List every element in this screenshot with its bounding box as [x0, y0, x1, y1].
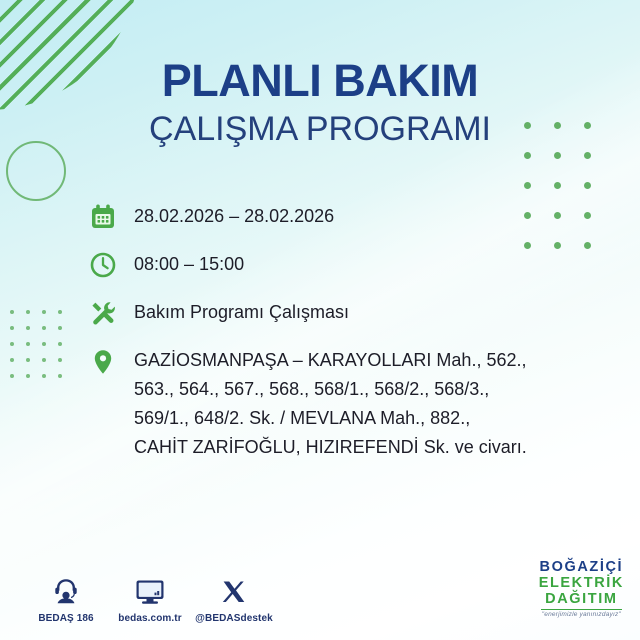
info-row-address: GAZİOSMANPAŞA – KARAYOLLARI Mah., 562., …: [86, 344, 586, 462]
title-line-1: PLANLI BAKIM: [0, 56, 640, 106]
contact-social[interactable]: @BEDASdestek: [192, 570, 276, 624]
headset-support-icon: [24, 570, 108, 606]
contact-social-label: @BEDASdestek: [192, 613, 276, 624]
planned-maintenance-poster: PLANLI BAKIM ÇALIŞMA PROGRAMI: [0, 0, 640, 640]
address-line-3: 569/1., 648/2. Sk. / MEVLANA Mah., 882.,: [134, 404, 527, 433]
dot-grid-left-decoration: [10, 310, 74, 390]
logo-line-elektrik: ELEKTRİK: [539, 575, 624, 591]
address-line-2: 563., 564., 567., 568., 568/1., 568/2., …: [134, 375, 527, 404]
info-row-date: 28.02.2026 – 28.02.2026: [86, 200, 586, 234]
footer: BEDAŞ 186: [0, 546, 640, 626]
work-type-value: Bakım Programı Çalışması: [134, 296, 349, 326]
date-range-value: 28.02.2026 – 28.02.2026: [134, 200, 334, 230]
title-line-2: ÇALIŞMA PROGRAMI: [0, 108, 640, 150]
location-pin-icon: [86, 344, 120, 378]
x-twitter-icon: [192, 570, 276, 606]
contact-list: BEDAŞ 186: [24, 570, 276, 624]
address-line-1: GAZİOSMANPAŞA – KARAYOLLARI Mah., 562.,: [134, 346, 527, 375]
tools-icon: [86, 296, 120, 330]
contact-website[interactable]: bedas.com.tr: [108, 570, 192, 624]
contact-phone-label: BEDAŞ 186: [24, 613, 108, 624]
bedas-logo: BOĞAZİÇİ ELEKTRİK DAĞITIM "enerjimizle y…: [539, 559, 624, 619]
page-title: PLANLI BAKIM ÇALIŞMA PROGRAMI: [0, 56, 640, 150]
address-line-4: CAHİT ZARİFOĞLU, HIZIREFENDİ Sk. ve civa…: [134, 433, 527, 462]
contact-phone[interactable]: BEDAŞ 186: [24, 570, 108, 624]
logo-line-dagitim: DAĞITIM: [539, 591, 624, 607]
logo-divider: [541, 609, 622, 611]
circle-outline-decoration: [6, 141, 66, 201]
contact-website-label: bedas.com.tr: [108, 613, 192, 624]
clock-icon: [86, 248, 120, 282]
info-row-work-type: Bakım Programı Çalışması: [86, 296, 586, 330]
logo-tagline: "enerjimizle yanınızdayız": [539, 611, 624, 618]
address-value: GAZİOSMANPAŞA – KARAYOLLARI Mah., 562., …: [134, 344, 527, 462]
info-list: 28.02.2026 – 28.02.2026 08:00 – 15:00: [86, 200, 586, 462]
monitor-website-icon: [108, 570, 192, 606]
logo-line-bogazici: BOĞAZİÇİ: [539, 559, 624, 575]
info-row-time: 08:00 – 15:00: [86, 248, 586, 282]
calendar-icon: [86, 200, 120, 234]
time-range-value: 08:00 – 15:00: [134, 248, 244, 278]
